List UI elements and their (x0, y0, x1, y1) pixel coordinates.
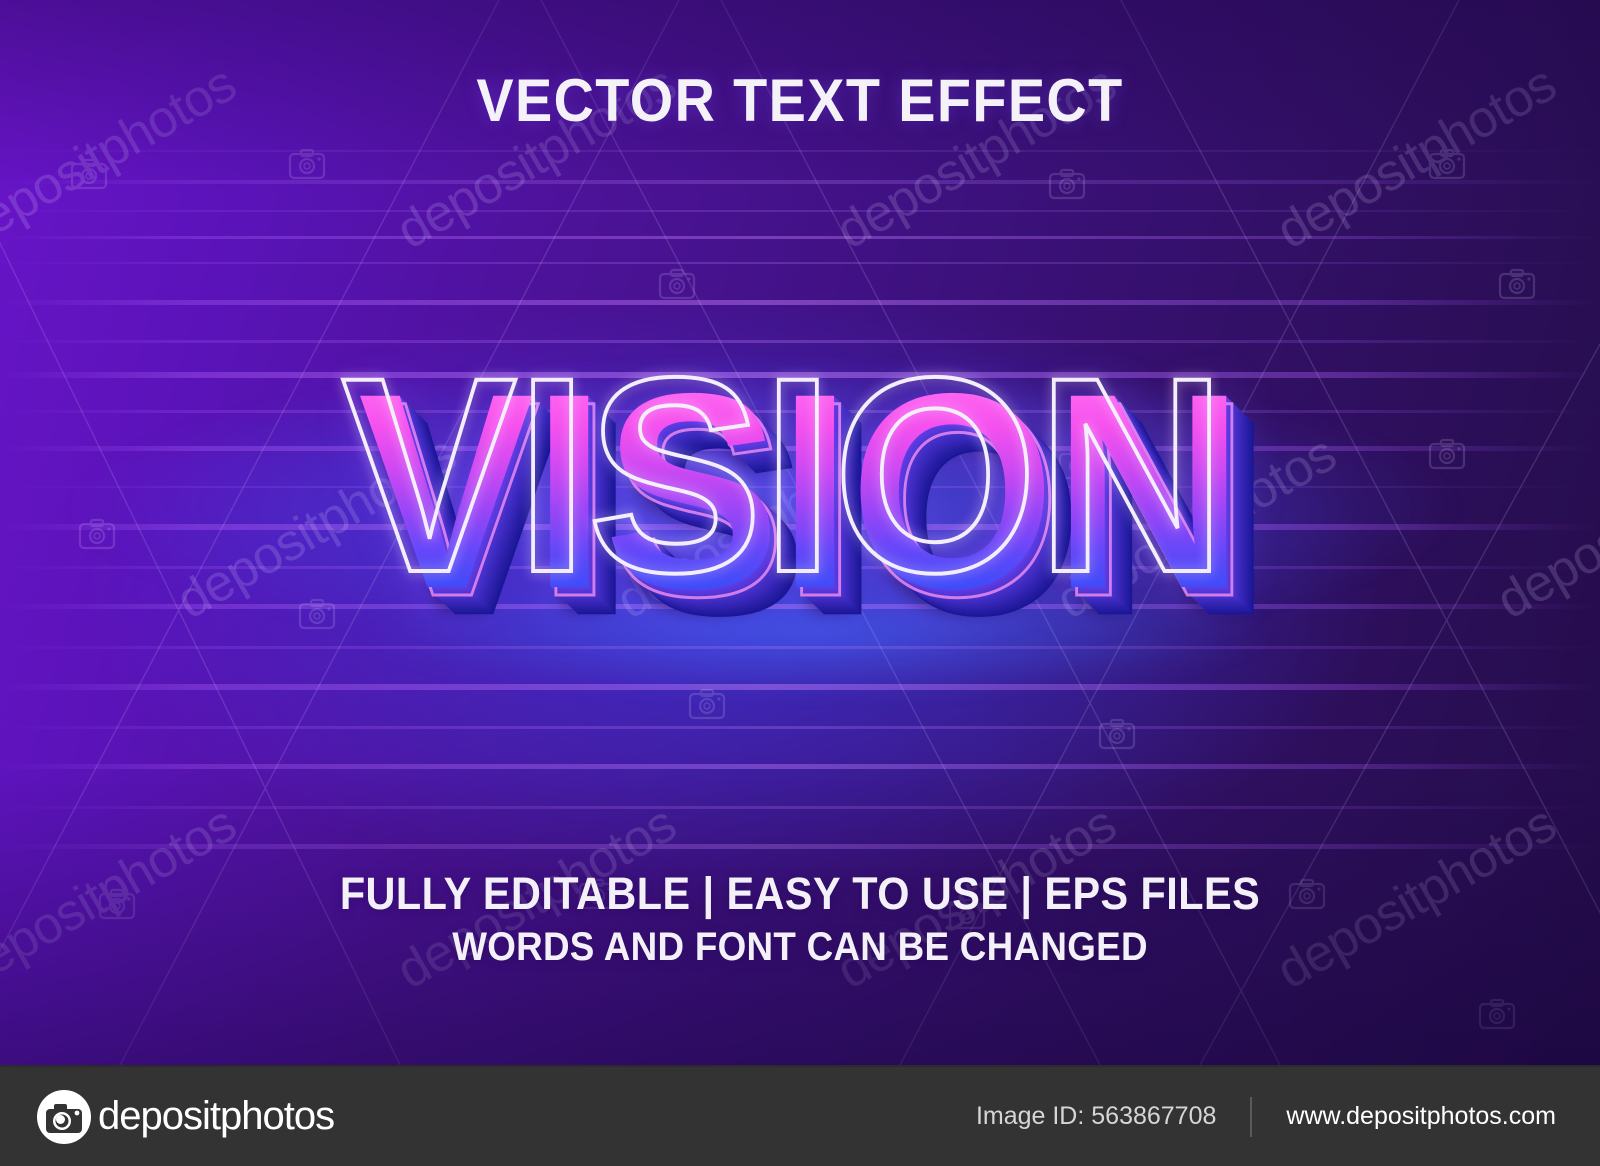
word-extrusion-slice: VISION (365, 358, 1249, 636)
word-extrusion-slice: VISION (375, 369, 1259, 647)
word-extrusion-slice: VISION (369, 362, 1253, 640)
streak-line (0, 236, 1600, 239)
vision-word-block: VISION VISION VISIONVISIONVISIONVISIONVI… (0, 352, 1600, 630)
word-extrusion-slice: VISION (380, 374, 1264, 652)
word-extrusion-slice: VISION (363, 357, 1247, 635)
word-extrusion-slice: VISION (369, 363, 1253, 641)
footer-bar: depositphotos Image ID: 563867708 www.de… (0, 1065, 1600, 1166)
word-extrusion-slice: VISION (367, 361, 1251, 639)
streak-line (0, 566, 1600, 569)
word-extrusion-slice: VISION (378, 372, 1262, 650)
word-extrusion-slice: VISION (373, 367, 1257, 645)
streak-line (0, 646, 1600, 649)
word-pink-contour: VISION (364, 360, 1248, 638)
word-dropshadow: VISION (373, 372, 1257, 650)
streak-line (0, 372, 1600, 378)
streak-line (0, 446, 1600, 451)
streak-line (0, 524, 1600, 530)
word-extrusion-slice: VISION (370, 364, 1254, 642)
word-extrusion-slice: VISION (377, 370, 1261, 648)
footer-divider (1250, 1097, 1252, 1137)
streak-line (0, 410, 1600, 413)
word-white-outline: VISION (341, 336, 1225, 614)
subtitle-features: FULLY EDITABLE | EASY TO USE | EPS FILES (64, 868, 1536, 920)
page-title: VECTOR TEXT EFFECT (56, 66, 1544, 135)
streak-line (0, 210, 1600, 212)
streak-line (0, 300, 1600, 305)
word-extrusion-slice: VISION (386, 379, 1270, 657)
lower-glow (160, 560, 1472, 740)
website-url[interactable]: www.depositphotos.com (1286, 1102, 1556, 1131)
word-extrusion-slice: VISION (377, 371, 1261, 649)
depositphotos-camera-logo-icon (36, 1089, 92, 1145)
streak-line (0, 340, 1600, 343)
brand-wordmark: depositphotos (98, 1094, 334, 1139)
word-extrusion-slice: VISION (359, 353, 1243, 631)
word-extrusion-slice: VISION (381, 374, 1265, 652)
word-extrusion-slice: VISION (360, 354, 1244, 632)
image-id-label: Image ID: 563867708 (976, 1102, 1216, 1131)
streak-line (0, 262, 1600, 264)
streak-line (0, 806, 1600, 809)
word-extrusion-slice: VISION (361, 355, 1245, 633)
word-extrusion-slice: VISION (379, 373, 1263, 651)
word-extrusion-slice: VISION (368, 362, 1252, 640)
word-extrusion-slice: VISION (364, 358, 1248, 636)
word-extrusion-slice: VISION (362, 356, 1246, 634)
center-glow (0, 300, 1600, 700)
vision-word: VISION VISION VISIONVISIONVISIONVISIONVI… (358, 352, 1242, 630)
screenshot-root: depositphotos (0, 0, 1600, 1166)
word-extrusion-slice: VISION (384, 378, 1268, 656)
word-extrusion-slice: VISION (374, 368, 1258, 646)
streak-line (0, 844, 1600, 849)
word-extrusion-slice: VISION (383, 377, 1267, 655)
streak-line (0, 486, 1600, 488)
streak-line (0, 604, 1600, 609)
streak-line (0, 684, 1600, 690)
word-extrusion-slice: VISION (365, 359, 1249, 637)
word-extrusion-slice: VISION (382, 376, 1266, 654)
streak-line (0, 150, 1600, 152)
word-extrusion-slice: VISION (385, 378, 1269, 656)
word-extrusion-slice: VISION (382, 375, 1266, 653)
word-face: VISION (358, 352, 1242, 630)
streak-line (0, 764, 1600, 769)
word-extrusion-slice: VISION (371, 365, 1255, 643)
brand-block[interactable]: depositphotos (36, 1089, 334, 1145)
subtitle-editable: WORDS AND FONT CAN BE CHANGED (64, 925, 1536, 970)
streak-line (0, 726, 1600, 729)
word-extrusion-slice: VISION (376, 370, 1260, 648)
footer-meta: Image ID: 563867708 www.depositphotos.co… (976, 1097, 1556, 1137)
word-extrusion-slice: VISION (361, 354, 1245, 632)
word-extrusion-slice: VISION (366, 360, 1250, 638)
word-extrusion-slice: VISION (372, 366, 1256, 644)
artwork-canvas: depositphotos (0, 0, 1600, 1065)
streak-line (0, 180, 1600, 184)
word-glow: VISION (360, 358, 1244, 636)
word-extrusion-slice: VISION (373, 366, 1257, 644)
